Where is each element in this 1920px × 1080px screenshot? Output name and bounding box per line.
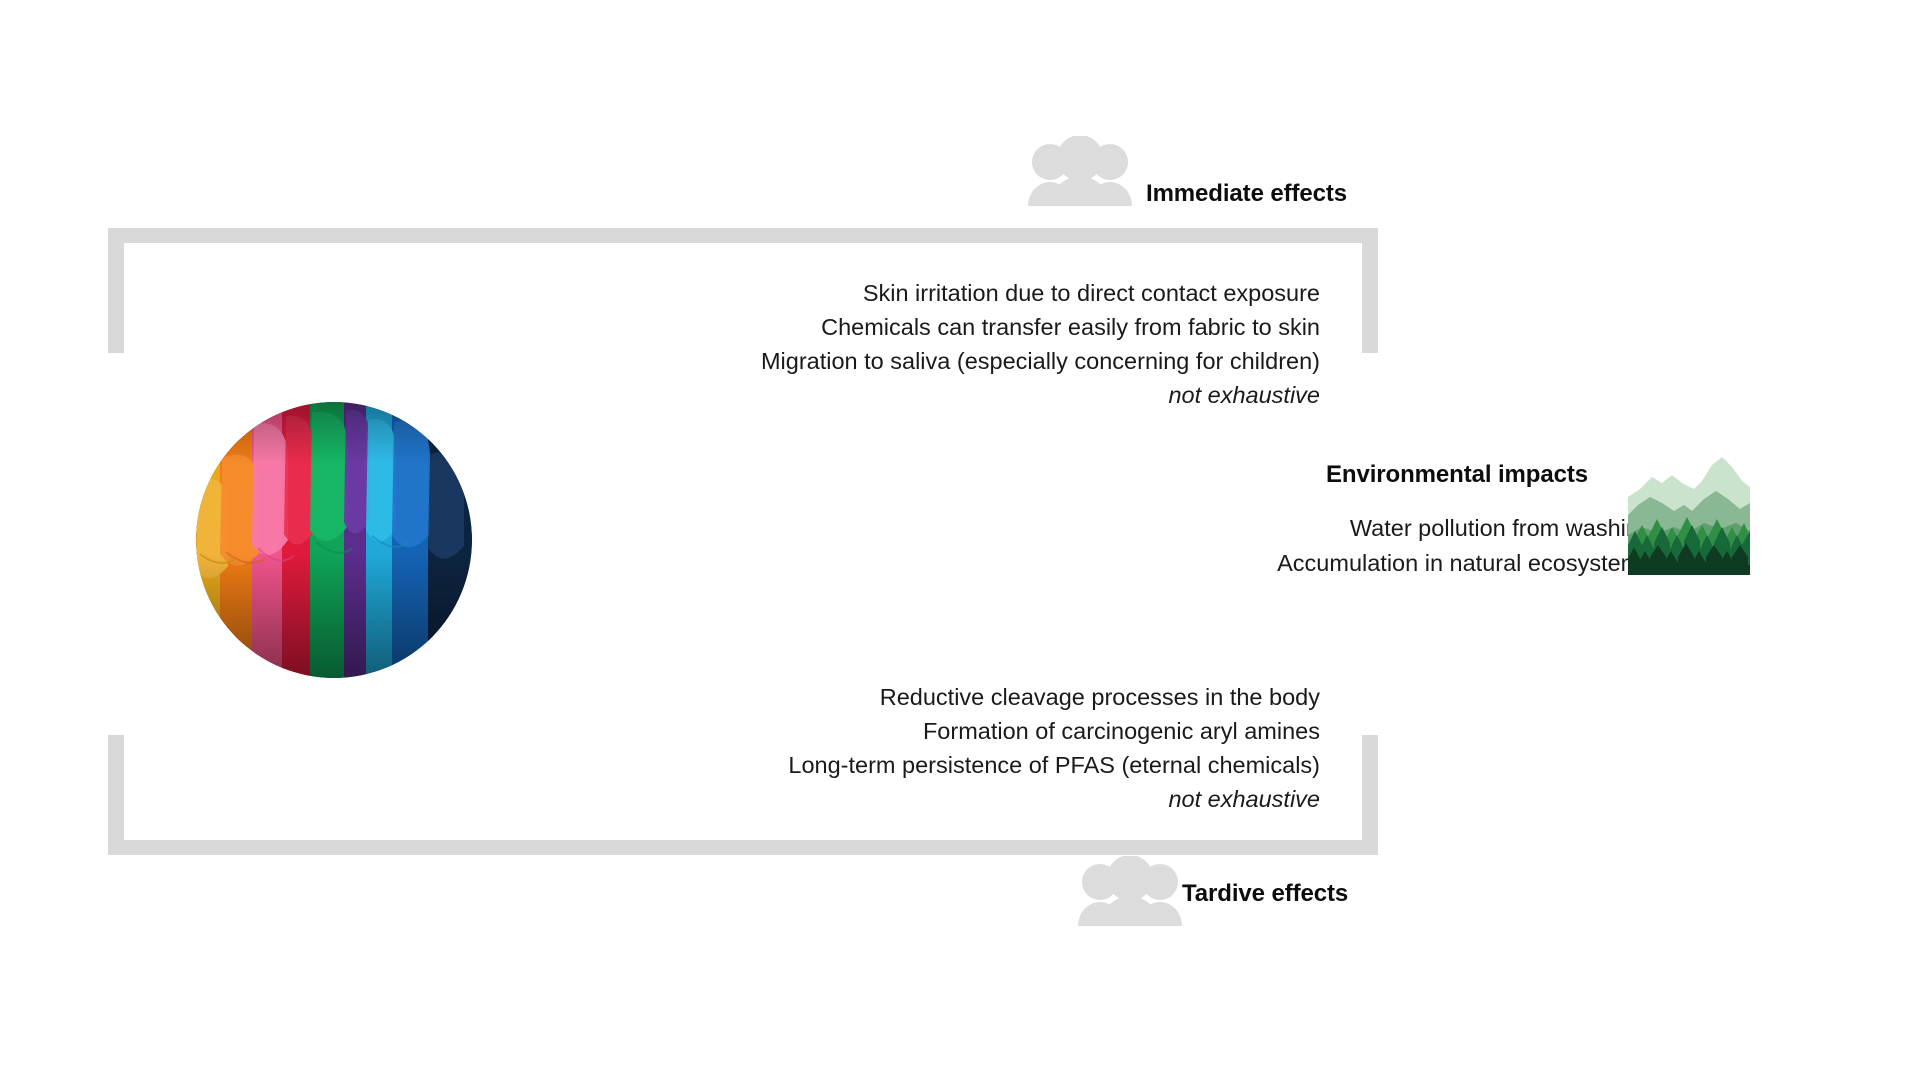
list-item: Reductive cleavage processes in the body bbox=[788, 680, 1320, 714]
bracket-top-right-leg bbox=[1362, 228, 1378, 353]
list-item: Migration to saliva (especially concerni… bbox=[761, 344, 1320, 378]
list-item: Skin irritation due to direct contact ex… bbox=[761, 276, 1320, 310]
colored-tshirts-photo bbox=[196, 402, 472, 678]
people-group-icon bbox=[1078, 856, 1182, 926]
list-item: Accumulation in natural ecosystems bbox=[1277, 546, 1652, 581]
bracket-top-left-leg bbox=[108, 228, 124, 353]
heading-immediate-effects: Immediate effects bbox=[1146, 180, 1347, 208]
text-block-environmental-impacts: Water pollution from washing Accumulatio… bbox=[1277, 511, 1652, 580]
text-block-tardive-effects: Reductive cleavage processes in the body… bbox=[788, 680, 1320, 816]
forest-mountain-image bbox=[1628, 453, 1750, 575]
heading-tardive-effects: Tardive effects bbox=[1182, 880, 1348, 908]
heading-environmental-impacts: Environmental impacts bbox=[1326, 461, 1588, 489]
list-item: Formation of carcinogenic aryl amines bbox=[788, 714, 1320, 748]
list-item: Chemicals can transfer easily from fabri… bbox=[761, 310, 1320, 344]
note-not-exhaustive: not exhaustive bbox=[761, 378, 1320, 412]
bracket-bottom-left-leg bbox=[108, 735, 124, 855]
people-group-icon bbox=[1028, 136, 1132, 206]
list-item: Water pollution from washing bbox=[1277, 511, 1652, 546]
list-item: Long-term persistence of PFAS (eternal c… bbox=[788, 748, 1320, 782]
bracket-bottom-right-leg bbox=[1362, 735, 1378, 855]
bracket-top-bar bbox=[108, 228, 1378, 243]
note-not-exhaustive: not exhaustive bbox=[788, 782, 1320, 816]
bracket-bottom-bar bbox=[108, 840, 1378, 855]
slide-canvas: Immediate effects Skin irritation due to… bbox=[0, 0, 1920, 1080]
text-block-immediate-effects: Skin irritation due to direct contact ex… bbox=[761, 276, 1320, 412]
